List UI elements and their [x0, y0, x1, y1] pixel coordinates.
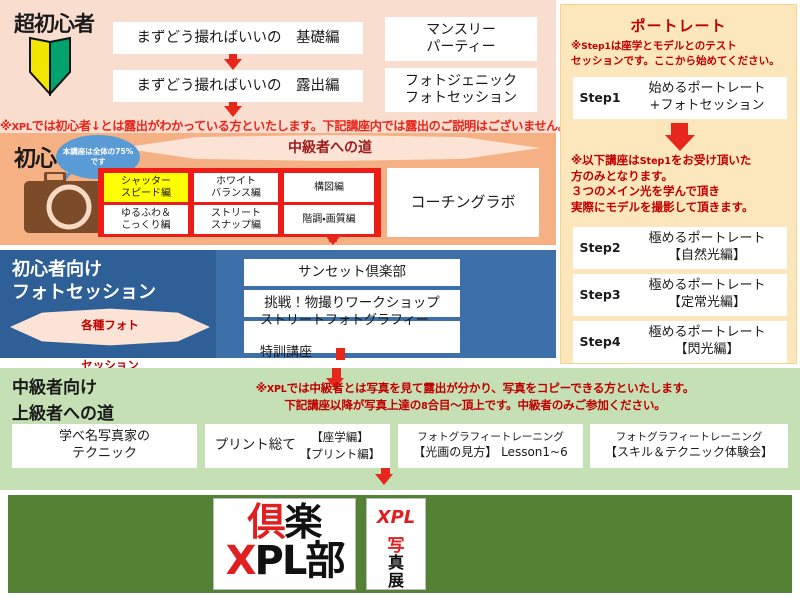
step4-line1: 極めるポートレート	[648, 325, 765, 340]
warning-xpl-label: XPL	[11, 122, 31, 133]
course-box-famous-photographer[interactable]: 学べ名写真家の テクニック	[12, 424, 197, 468]
street-snap-line1: ストリート	[211, 208, 261, 219]
warning-body: では初心者↓とは露出がわかっている方といたします。下記講座内では露出のご説明はご…	[32, 119, 570, 133]
course-box-sunset-club[interactable]: サンセット倶楽部	[244, 259, 460, 286]
course-box-white-balance[interactable]: ホワイト バランス編	[194, 173, 278, 202]
section-beginner: 初心者 中級者への道 本講座は全体の75%です シャッター スピード編	[0, 133, 556, 245]
white-balance-line2: バランス編	[211, 188, 261, 199]
step2-line2: 【自然光編】	[668, 248, 746, 263]
photo-session-label-line1: 初心者向け	[12, 259, 102, 280]
street-snap-line2: スナップ編	[211, 220, 261, 231]
warning-prefix: ※	[0, 119, 11, 133]
portrait-title: ポートレート	[561, 15, 796, 36]
section-beginner-photo-session: 初心者向け フォトセッション 各種フォト セッション サンセット倶楽部 挑戦！物…	[0, 250, 556, 358]
white-balance-line1: ホワイト	[216, 176, 256, 187]
wakaba-beginner-badge-icon	[27, 36, 73, 96]
portrait-course-step2[interactable]: Step2 極めるポートレート 【自然光編】	[573, 227, 787, 269]
banner-road-label: 中級者への道	[120, 135, 540, 161]
step4-label: Step4	[573, 334, 627, 350]
arrow-basics-to-exposure	[224, 59, 242, 70]
warn2-line2a: 下記講座以降が写真上達の	[284, 398, 421, 412]
step1-label: Step1	[573, 90, 627, 106]
training2-line2: 【スキル＆テクニック体験会】	[605, 445, 773, 459]
intermediate-label-line2: 上級者への道	[12, 404, 114, 424]
step2-label: Step2	[573, 240, 627, 256]
print-right1: 【座学編】	[311, 430, 369, 444]
course-box-exposure[interactable]: まずどう撮ればいいの 露出編	[113, 70, 363, 102]
yurufuwa-line2: こっくり編	[121, 220, 170, 231]
arrow-beginner-to-photosession	[324, 234, 342, 245]
warn2-xpl-label: XPL	[267, 384, 287, 395]
step3-line2: 【定常光編】	[668, 295, 746, 310]
step2-line1: 極めるポートレート	[648, 231, 765, 246]
note2-line4: 実際にモデルを撮影して頂きます。	[571, 200, 754, 214]
section-label-super-beginner: 超初心者	[14, 8, 94, 38]
club-logo-bu: 部	[305, 538, 343, 584]
course-box-coaching-lab[interactable]: コーチングラボ	[387, 168, 539, 237]
portrait-course-step1[interactable]: Step1 始めるポートレート +フォトセッション	[573, 77, 787, 119]
course-box-basics[interactable]: まずどう撮ればいいの 基礎編	[113, 22, 363, 54]
photogenic-line1: フォトジェニック	[405, 73, 517, 89]
note2-prefix: ※以下講座は	[571, 153, 640, 167]
shutter-speed-line1: シャッター	[121, 176, 171, 187]
arrow-intermediate-to-club	[375, 474, 393, 485]
warn2-prefix: ※	[256, 381, 267, 395]
portrait-note-step2: ※以下講座はStep1をお受け頂いた 方のみとなります。 ３つのメイン光を学んで…	[571, 153, 795, 215]
course-box-shutter-speed[interactable]: シャッター スピード編	[104, 173, 188, 202]
arrow-portrait-step1-to-step2	[665, 135, 695, 151]
note2-line2: 方のみとなります。	[571, 169, 673, 183]
print-right2: 【プリント編】	[300, 447, 381, 461]
exhibit-ten: 展	[367, 567, 425, 591]
course-box-composition[interactable]: 構図編	[284, 173, 374, 202]
street-photography-line1: ストリートフォトグラフィー	[252, 313, 460, 329]
section-label-photo-session: 初心者向け フォトセッション	[12, 258, 156, 305]
step4-line2: 【閃光編】	[674, 342, 739, 357]
note2-line3: ３つのメイン光を学んで頂き	[571, 184, 720, 198]
step1-line1: 始めるポートレート	[648, 81, 765, 96]
step3-label: Step3	[573, 287, 627, 303]
club-logo-pl: PL	[255, 538, 306, 584]
portrait-course-step4[interactable]: Step4 極めるポートレート 【閃光編】	[573, 321, 787, 363]
arrow-stem-photosession-to-intermediate	[336, 348, 345, 360]
meiga-line1: 学べ名写真家の	[59, 429, 150, 444]
note1-step-label: Step1	[581, 42, 611, 52]
warning-text-intermediate: ※XPLでは中級者とは写真を見て露出が分かり、写真をコピーできる方といたします。…	[160, 380, 790, 415]
intermediate-label-line1: 中級者向け	[12, 378, 97, 398]
gradation-label: 階調・画質編	[302, 214, 355, 226]
step3-line1: 極めるポートレート	[648, 278, 765, 293]
monthly-party-line2: パーティー	[426, 39, 495, 55]
course-box-street-snap[interactable]: ストリート スナップ編	[194, 205, 278, 234]
club-logo-x: X	[226, 538, 255, 584]
training1-line2: 【光画の見方】 Lesson1~6	[413, 445, 567, 459]
course-box-print-all[interactable]: プリント総て 【座学編】 【プリント編】	[205, 424, 390, 468]
print-left-label: プリント総て	[215, 437, 300, 455]
yurufuwa-line1: ゆるふわ＆	[121, 208, 171, 219]
club-logo-bottom-row: XPL部	[214, 541, 355, 581]
section-intermediate: 中級者向け 上級者への道 ※XPLでは中級者とは写真を見て露出が分かり、写真をコ…	[0, 368, 800, 490]
photo-session-label-line2: フォトセッション	[12, 282, 156, 303]
note2-step-label: Step1	[640, 156, 671, 167]
exhibit-xpl: XPL	[367, 507, 425, 528]
banner-various-line1: 各種フォト	[10, 312, 210, 334]
course-box-monthly-party[interactable]: マンスリー パーティー	[385, 17, 537, 61]
course-box-street-photography[interactable]: ストリートフォトグラフィー 特訓講座	[244, 321, 460, 353]
photogenic-line2: フォトセッション	[405, 90, 517, 106]
section-portrait: ポートレート ※Step1は座学とモデルとのテスト セッションです。ここから始め…	[560, 4, 797, 364]
course-box-photography-training-lesson[interactable]: フォトグラフィートレーニング 【光画の見方】 Lesson1~6	[398, 424, 583, 468]
composition-label: 構図編	[314, 182, 344, 194]
club-logo[interactable]: 倶楽 XPL部	[213, 498, 356, 590]
training2-line1: フォトグラフィートレーニング	[616, 431, 763, 443]
warn2-line1: では中級者とは写真を見て露出が分かり、写真をコピーできる方といたします。	[287, 381, 695, 395]
monthly-party-line1: マンスリー	[426, 22, 496, 38]
warn2-line2b: 合目～頂上です。中級者のみご参加ください。	[428, 398, 666, 412]
course-roadmap-diagram: 超初心者 まずどう撮ればいいの 基礎編 まずどう撮ればいいの 露出編 マンスリー…	[0, 0, 800, 600]
meiga-line2: テクニック	[72, 446, 137, 461]
course-box-gradation-quality[interactable]: 階調・画質編	[284, 205, 374, 234]
note1-rest: は座学とモデルとのテスト	[611, 40, 737, 52]
note1-prefix: ※	[571, 40, 581, 52]
club-exhibition-logo[interactable]: XPL 写 真 展	[366, 498, 426, 590]
note1-line2: セッションです。ここから始めてください。	[571, 55, 780, 67]
banner-road-to-intermediate: 中級者への道	[120, 135, 540, 161]
section-super-beginner: 超初心者 まずどう撮ればいいの 基礎編 まずどう撮ればいいの 露出編 マンスリー…	[0, 0, 556, 133]
course-box-photography-training-skill[interactable]: フォトグラフィートレーニング 【スキル＆テクニック体験会】	[590, 424, 788, 468]
banner-various-sessions: 各種フォト セッション	[10, 307, 210, 347]
portrait-note-step1: ※Step1は座学とモデルとのテスト セッションです。ここから始めてください。	[571, 39, 793, 68]
step1-line2: +フォトセッション	[650, 98, 765, 113]
club-logo-top-row: 倶楽	[214, 503, 355, 541]
training1-line1: フォトグラフィートレーニング	[417, 431, 564, 443]
note2-rest: をお受け頂いた	[671, 153, 752, 167]
course-box-yurufuwa[interactable]: ゆるふわ＆ こっくり編	[104, 205, 188, 234]
portrait-course-step3[interactable]: Step3 極めるポートレート 【定常光編】	[573, 274, 787, 316]
section-label-intermediate: 中級者向け 上級者への道	[12, 376, 114, 427]
beginner-course-grid: シャッター スピード編 ホワイト バランス編 構図編 ゆるふわ＆ こっくり編	[98, 168, 381, 237]
shutter-speed-line2: スピード編	[121, 188, 171, 199]
course-box-photogenic-session[interactable]: フォトジェニック フォトセッション	[385, 68, 537, 112]
street-photography-line2: 特訓講座	[252, 345, 460, 361]
